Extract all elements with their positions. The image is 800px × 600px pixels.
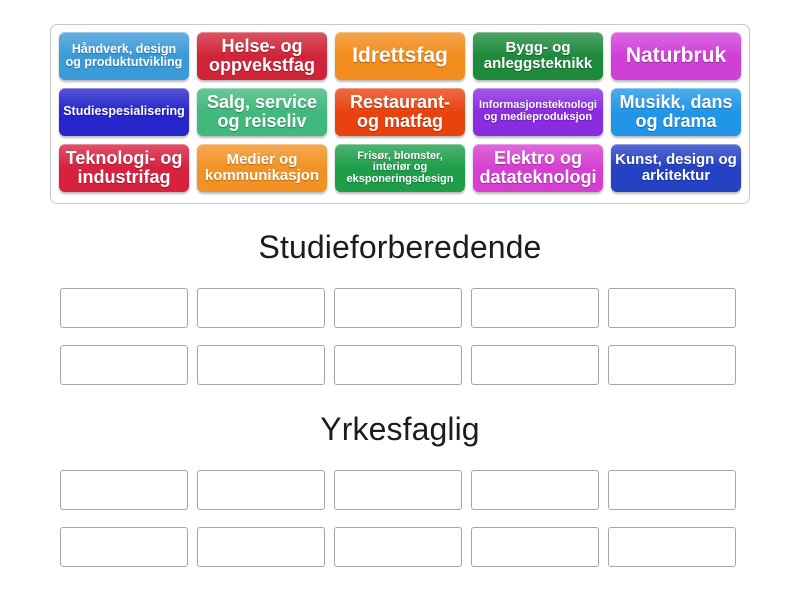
dropzone-slot[interactable] [197, 345, 325, 385]
tile-naturbruk[interactable]: Naturbruk [611, 32, 741, 80]
tile-label: Bygg- og anleggsteknikk [477, 40, 599, 72]
section-title-yrkesfaglig: Yrkesfaglig [0, 411, 800, 448]
dropzone-slot[interactable] [608, 470, 736, 510]
tile-label: Restaurant- og matfag [339, 93, 461, 131]
dropzone-slot[interactable] [471, 288, 599, 328]
tile-medier-og-kommunikasjon[interactable]: Medier og kommunikasjon [197, 144, 327, 192]
tile-elektro-og-datateknologi[interactable]: Elektro og datateknologi [473, 144, 603, 192]
dropzone-slot[interactable] [608, 288, 736, 328]
tile-restaurant-og-matfag[interactable]: Restaurant- og matfag [335, 88, 465, 136]
dropzone-slot[interactable] [608, 527, 736, 567]
tile-label: Naturbruk [626, 45, 726, 67]
tile-label: Medier og kommunikasjon [201, 152, 323, 184]
tile-label: Idrettsfag [352, 45, 448, 67]
tile-label: Helse- og oppvekstfag [201, 37, 323, 75]
dropzone-slot[interactable] [334, 470, 462, 510]
tile-label: Håndverk, design og produktutvikling [63, 43, 185, 69]
dropzone-slot[interactable] [60, 470, 188, 510]
dropzone-group-studieforberedende [60, 288, 740, 385]
dropzone-slot[interactable] [60, 527, 188, 567]
tile-salg-service-og-reiseliv[interactable]: Salg, service og reiseliv [197, 88, 327, 136]
tile-teknologi-og-industrifag[interactable]: Teknologi- og industrifag [59, 144, 189, 192]
dropzone-slot[interactable] [60, 288, 188, 328]
dropzone-slot[interactable] [197, 288, 325, 328]
tile-musikk-dans-og-drama[interactable]: Musikk, dans og drama [611, 88, 741, 136]
tile-label: Elektro og datateknologi [477, 149, 599, 187]
dropzone-slot[interactable] [334, 345, 462, 385]
tile-grid: Håndverk, design og produktutviklingHels… [56, 32, 744, 192]
dropzone-slot[interactable] [471, 527, 599, 567]
tile-frisor-blomster-interior-og-eksponeringsdesign[interactable]: Frisør, blomster, interiør og eksponerin… [335, 144, 465, 192]
dropzone-slot[interactable] [608, 345, 736, 385]
dropzone-slot[interactable] [471, 470, 599, 510]
tile-idrettsfag[interactable]: Idrettsfag [335, 32, 465, 80]
tile-label: Salg, service og reiseliv [201, 93, 323, 131]
tile-informasjonsteknologi-og-medieproduksjon[interactable]: Informasjonsteknologi og medieproduksjon [473, 88, 603, 136]
tile-label: Informasjonsteknologi og medieproduksjon [477, 100, 599, 123]
dropzone-slot[interactable] [334, 288, 462, 328]
dropzone-slot[interactable] [60, 345, 188, 385]
tile-studiespesialisering[interactable]: Studiespesialisering [59, 88, 189, 136]
tile-helse-og-oppvekstfag[interactable]: Helse- og oppvekstfag [197, 32, 327, 80]
tile-handverk-design-og-produktutvikling[interactable]: Håndverk, design og produktutvikling [59, 32, 189, 80]
dropzone-slot[interactable] [471, 345, 599, 385]
dropzone-group-yrkesfaglig [60, 470, 740, 567]
tile-label: Musikk, dans og drama [615, 93, 737, 131]
tile-label: Frisør, blomster, interiør og eksponerin… [339, 151, 461, 186]
tile-bygg-og-anleggsteknikk[interactable]: Bygg- og anleggsteknikk [473, 32, 603, 80]
section-title-studieforberedende: Studieforberedende [0, 229, 800, 266]
dropzone-slot[interactable] [197, 470, 325, 510]
dropzone-slot[interactable] [197, 527, 325, 567]
tile-label: Kunst, design og arkitektur [615, 152, 737, 184]
dropzone-slot[interactable] [334, 527, 462, 567]
draggable-tiles-tray: Håndverk, design og produktutviklingHels… [50, 24, 750, 204]
tile-label: Studiespesialisering [63, 105, 185, 118]
tile-kunst-design-og-arkitektur[interactable]: Kunst, design og arkitektur [611, 144, 741, 192]
tile-label: Teknologi- og industrifag [63, 149, 185, 187]
